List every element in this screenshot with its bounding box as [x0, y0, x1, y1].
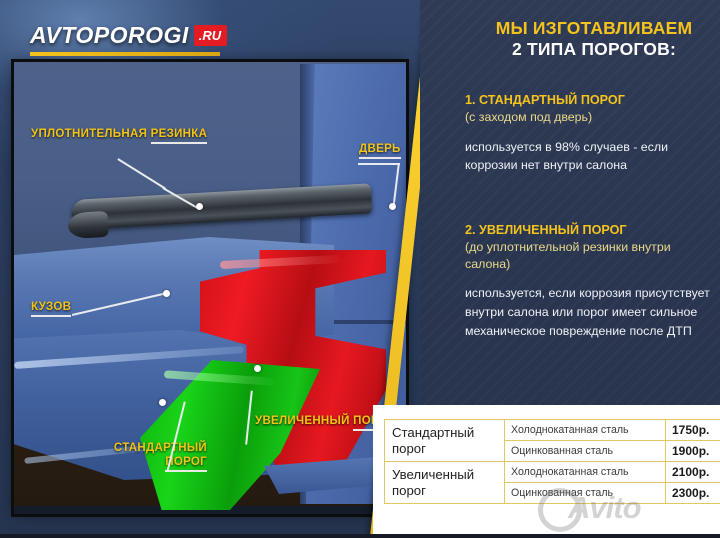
- sill-type-block-standard: 1. СТАНДАРТНЫЙ ПОРОГ (с заходом под двер…: [465, 92, 715, 175]
- leader-dot-rubber-seal: [196, 203, 203, 210]
- enlarged-block-subtitle: (до уплотнительной резинки внутри салона…: [465, 239, 715, 272]
- price-material: Оцинкованная сталь: [505, 441, 666, 462]
- logo[interactable]: AVTOPOROGI .RU: [30, 22, 227, 56]
- leader-line-door-h: [358, 163, 400, 165]
- leader-dot-door: [389, 203, 396, 210]
- price-value: 2100р.: [666, 462, 720, 483]
- leader-dot-enlarged-sill: [254, 365, 261, 372]
- headline-line2: 2 ТИПА ПОРОГОВ:: [474, 39, 714, 60]
- callout-car-body-label: КУЗОВ: [31, 301, 71, 317]
- callout-door: ДВЕРЬ: [359, 142, 401, 156]
- bottom-edge-bar: [0, 534, 720, 538]
- rubber-seal-lip-shape: [67, 211, 108, 239]
- price-material: Оцинкованная сталь: [505, 483, 666, 504]
- callout-rubber-seal-line1: УПЛОТНИТЕЛЬНАЯ: [31, 128, 147, 140]
- callout-standard-sill: СТАНДАРТНЫЙ ПОРОГ: [89, 441, 207, 470]
- price-value: 1900р.: [666, 441, 720, 462]
- standard-block-subtitle: (с заходом под дверь): [465, 109, 715, 126]
- sill-type-block-enlarged: 2. УВЕЛИЧЕННЫЙ ПОРОГ (до уплотнительной …: [465, 222, 715, 340]
- price-value: 2300р.: [666, 483, 720, 504]
- price-category-standard: Стандартный порог: [385, 420, 505, 462]
- headline-line1: МЫ ИЗГОТАВЛИВАЕМ: [474, 18, 714, 39]
- logo-text: AVTOPOROGI: [30, 22, 189, 49]
- callout-enlarged-sill-line1: УВЕЛИЧЕННЫЙ: [255, 415, 350, 427]
- logo-tld-badge: .RU: [194, 25, 227, 46]
- logo-underline: [30, 52, 220, 56]
- enlarged-block-body: используется, если коррозия присутствует…: [465, 284, 715, 340]
- callout-rubber-seal: УПЛОТНИТЕЛЬНАЯ РЕЗИНКА: [31, 127, 207, 141]
- price-value: 1750р.: [666, 420, 720, 441]
- table-row: Стандартный порог Холоднокатанная сталь …: [385, 420, 720, 441]
- price-table: Стандартный порог Холоднокатанная сталь …: [384, 419, 720, 504]
- price-category-enlarged: Увеличенный порог: [385, 462, 505, 504]
- advertisement-banner: УПЛОТНИТЕЛЬНАЯ РЕЗИНКА КУЗОВ ДВЕРЬ СТАНД…: [0, 0, 720, 538]
- standard-block-title: 1. СТАНДАРТНЫЙ ПОРОГ: [465, 92, 715, 109]
- callout-standard-sill-line1: СТАНДАРТНЫЙ: [114, 442, 207, 454]
- price-table-panel: Стандартный порог Холоднокатанная сталь …: [373, 405, 720, 538]
- table-row: Увеличенный порог Холоднокатанная сталь …: [385, 462, 720, 483]
- enlarged-block-title: 2. УВЕЛИЧЕННЫЙ ПОРОГ: [465, 222, 715, 239]
- price-material: Холоднокатанная сталь: [505, 420, 666, 441]
- standard-block-body: используется в 98% случаев - если корроз…: [465, 138, 715, 175]
- leader-dot-car-body: [163, 290, 170, 297]
- callout-car-body: КУЗОВ: [31, 300, 71, 314]
- price-material: Холоднокатанная сталь: [505, 462, 666, 483]
- callout-door-label: ДВЕРЬ: [359, 143, 401, 159]
- page-title: МЫ ИЗГОТАВЛИВАЕМ 2 ТИПА ПОРОГОВ:: [474, 18, 714, 60]
- callout-rubber-seal-line2: РЕЗИНКА: [151, 128, 208, 144]
- diagram-panel: УПЛОТНИТЕЛЬНАЯ РЕЗИНКА КУЗОВ ДВЕРЬ СТАНД…: [0, 0, 420, 538]
- leader-dot-standard-sill: [159, 399, 166, 406]
